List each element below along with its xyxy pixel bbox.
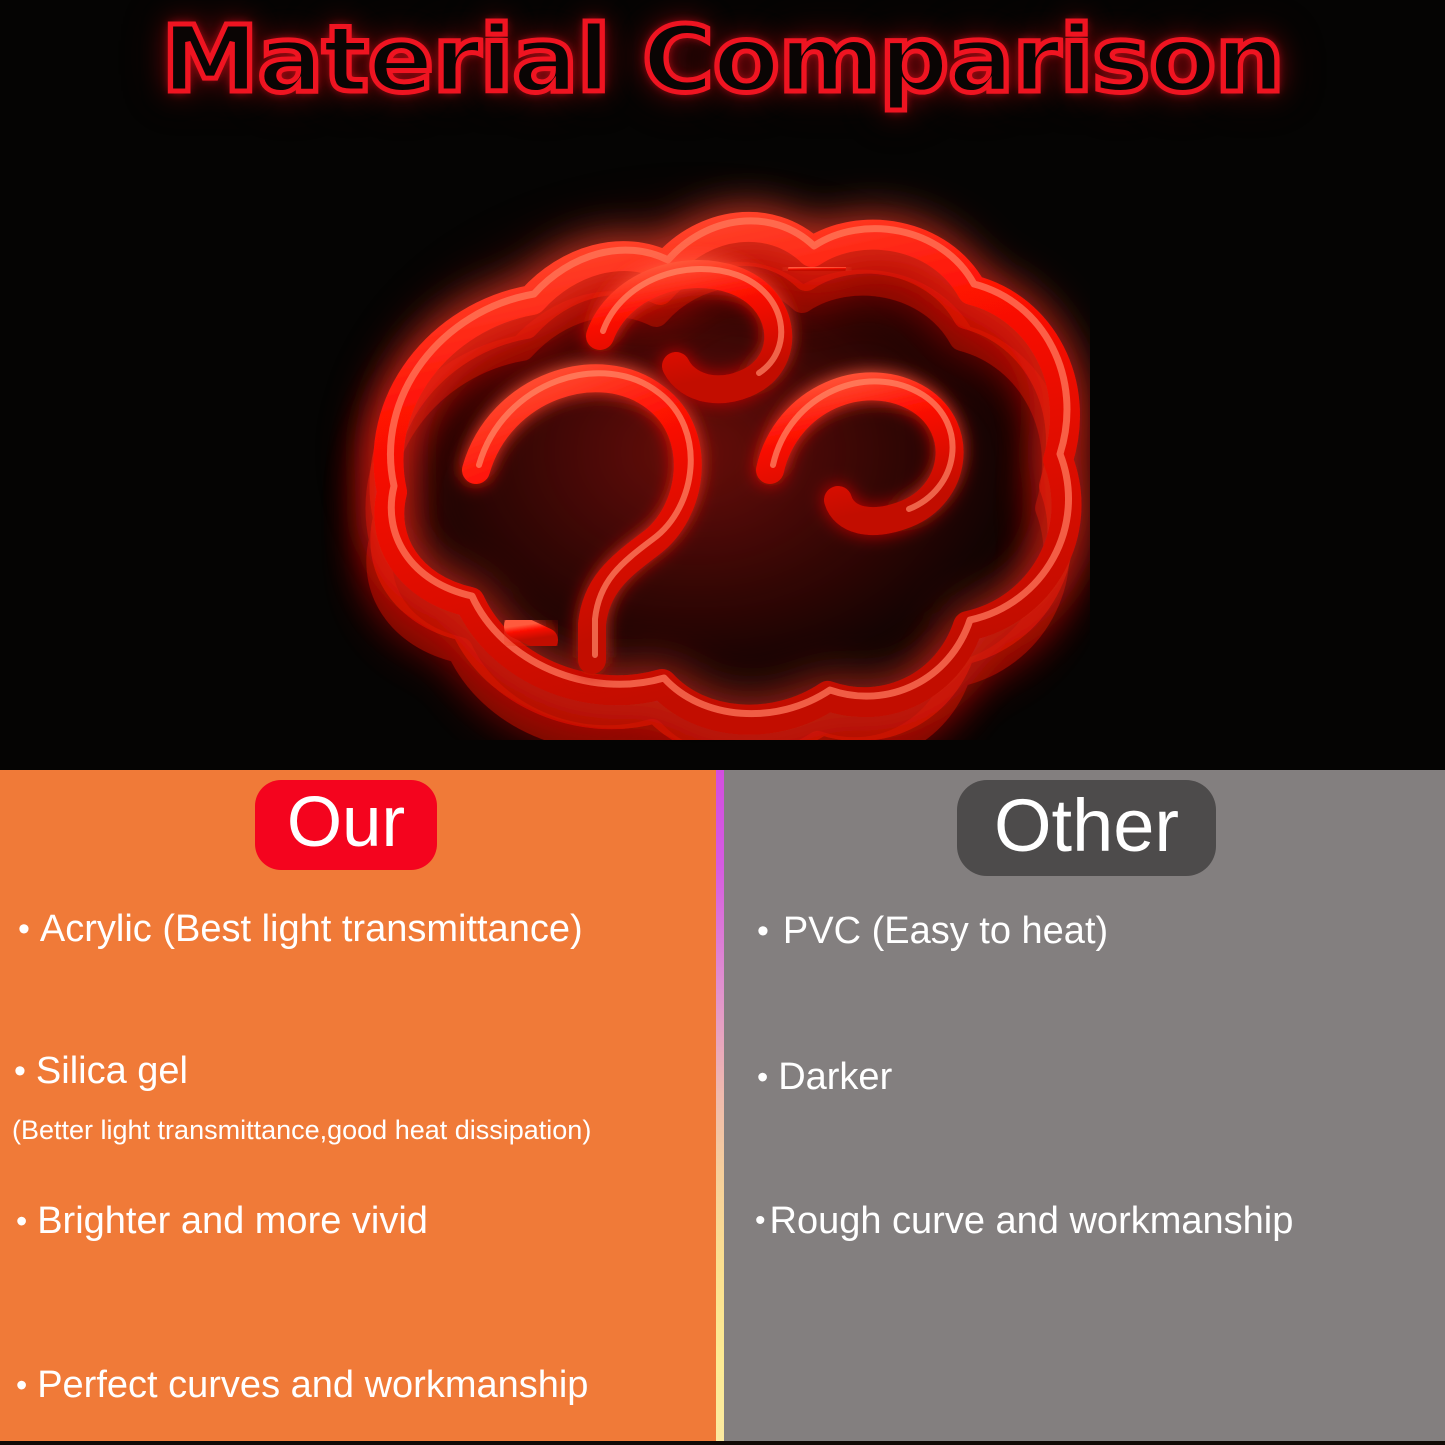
material-comparison-infographic: Material Comparison bbox=[0, 0, 1445, 1445]
list-item-our-4: • Perfect curves and workmanship bbox=[16, 1366, 588, 1404]
bullet-dot-icon: • bbox=[18, 912, 30, 946]
comparison-panel: Our Other • Acrylic (Best light transmit… bbox=[0, 770, 1445, 1441]
list-item-text: PVC (Easy to heat) bbox=[783, 912, 1108, 950]
list-item-our-2-subtext: (Better light transmittance,good heat di… bbox=[12, 1115, 591, 1146]
bullet-dot-icon: • bbox=[757, 1061, 768, 1093]
bullet-dot-icon: • bbox=[14, 1054, 26, 1088]
page-title: Material Comparison bbox=[0, 8, 1445, 112]
badge-our: Our bbox=[255, 780, 437, 870]
list-item-our-2: • Silica gel bbox=[14, 1052, 188, 1090]
product-neon-sign-image bbox=[300, 140, 1090, 740]
list-item-text: Darker bbox=[778, 1058, 892, 1096]
bullet-dot-icon: • bbox=[16, 1369, 27, 1401]
gradient-divider bbox=[716, 770, 724, 1441]
list-item-other-2: • Darker bbox=[757, 1058, 892, 1096]
list-item-our-3: • Brighter and more vivid bbox=[16, 1202, 428, 1240]
bottom-edge-strip bbox=[0, 1441, 1445, 1445]
list-item-text: Rough curve and workmanship bbox=[770, 1202, 1294, 1240]
bullet-dot-icon: • bbox=[755, 1206, 766, 1236]
red-neon-sign-icon bbox=[300, 140, 1090, 740]
list-item-other-1: • PVC (Easy to heat) bbox=[757, 912, 1108, 950]
list-item-other-3: • Rough curve and workmanship bbox=[755, 1202, 1293, 1240]
list-item-our-1: • Acrylic (Best light transmittance) bbox=[18, 910, 583, 948]
bullet-dot-icon: • bbox=[757, 914, 769, 948]
list-item-text: Silica gel bbox=[36, 1052, 188, 1090]
list-item-text: Brighter and more vivid bbox=[37, 1202, 428, 1240]
list-item-text: Perfect curves and workmanship bbox=[37, 1366, 588, 1404]
list-item-text: Acrylic (Best light transmittance) bbox=[40, 910, 583, 948]
badge-other: Other bbox=[957, 780, 1216, 876]
bullet-dot-icon: • bbox=[16, 1205, 27, 1237]
hero-section: Material Comparison bbox=[0, 0, 1445, 770]
column-our bbox=[0, 770, 716, 1441]
